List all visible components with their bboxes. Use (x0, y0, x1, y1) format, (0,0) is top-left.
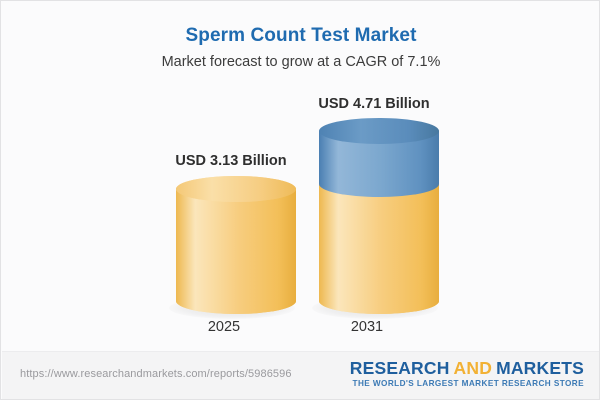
logo-tagline: THE WORLD'S LARGEST MARKET RESEARCH STOR… (350, 379, 584, 388)
logo-wordmark: RESEARCHANDMARKETS (350, 359, 584, 377)
research-and-markets-logo[interactable]: RESEARCHANDMARKETS THE WORLD'S LARGEST M… (350, 359, 584, 388)
logo-research-text: RESEARCH (350, 358, 450, 378)
bar-value-label-2031: USD 4.71 Billion (274, 96, 474, 112)
footer: https://www.researchandmarkets.com/repor… (2, 351, 600, 399)
logo-markets-text: MARKETS (496, 358, 584, 378)
report-url[interactable]: https://www.researchandmarkets.com/repor… (20, 368, 292, 380)
bar-cylinder-2025 (174, 175, 298, 317)
bar-value-label-2025: USD 3.13 Billion (131, 153, 331, 169)
logo-and-text: AND (450, 358, 497, 378)
chart-plot-area: USD 3.13 Billion (1, 1, 600, 353)
bar-cylinder-2031 (317, 117, 441, 317)
infographic-card: Sperm Count Test Market Market forecast … (0, 0, 600, 400)
bar-category-label-2031: 2031 (267, 319, 467, 335)
